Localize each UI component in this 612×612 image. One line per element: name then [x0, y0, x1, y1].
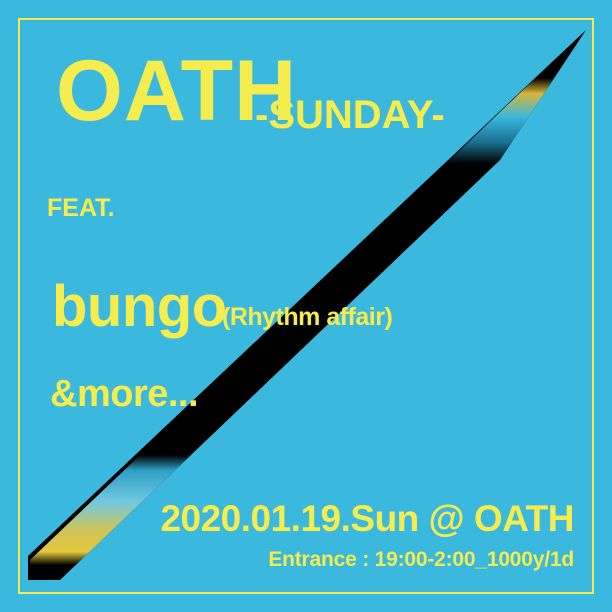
artist-affiliation: (Rhythm affair) — [222, 303, 392, 332]
feat-label: FEAT. — [47, 194, 115, 223]
entrance-info: Entrance : 19:00-2:00_1000y/1d — [268, 548, 574, 572]
flyer-poster: OATH -SUNDAY- FEAT. bungo (Rhythm affair… — [0, 0, 612, 612]
more-artists-label: &more... — [50, 373, 198, 416]
artist-name: bungo — [52, 278, 227, 336]
event-date-venue: 2020.01.19.Sun @ OATH — [160, 498, 574, 540]
poster-subtitle: -SUNDAY- — [255, 95, 445, 135]
